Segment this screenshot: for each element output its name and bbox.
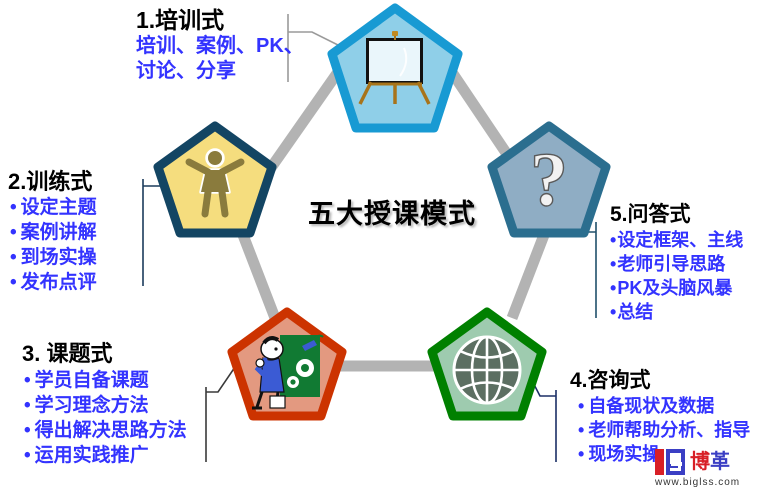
list-item: 设定主题 — [8, 195, 97, 220]
node-4-consulting[interactable] — [432, 312, 542, 416]
list-item: 运用实践推广 — [22, 443, 187, 468]
label-3-list: 学员自备课题 学习理念方法 得出解决思路方法 运用实践推广 — [22, 368, 187, 468]
label-4-title: 4.咨询式 — [570, 368, 750, 394]
list-item: 老师帮助分析、指导 — [570, 418, 750, 442]
label-3-title: 3. 课题式 — [22, 340, 187, 368]
node-3-topic[interactable] — [232, 312, 342, 416]
list-item: 发布点评 — [8, 270, 97, 295]
label-1-line-1: 培训、案例、PK、 — [136, 34, 304, 59]
logo-word-1: 博 — [690, 451, 710, 473]
center-title: 五大授课模式 — [292, 192, 492, 231]
brand-logo: 博革 www.biglss.com — [655, 448, 761, 492]
list-item: 案例讲解 — [8, 220, 97, 245]
diagram-canvas: ? 五大授课模式 1.培训式 培训、案例、PK、 讨论、分享 2.训练式 设定主… — [0, 0, 764, 495]
svg-text:?: ? — [530, 138, 568, 222]
label-5-list: 设定框架、主线 老师引导思路 PK及头脑风暴 总结 — [610, 228, 743, 324]
list-item: 总结 — [610, 300, 743, 324]
label-2-list: 设定主题 案例讲解 到场实操 发布点评 — [8, 195, 97, 295]
list-item: 老师引导思路 — [610, 252, 743, 276]
node-5-qa[interactable]: ? — [492, 126, 606, 233]
list-item: 得出解决思路方法 — [22, 418, 187, 443]
node-1-training[interactable] — [332, 8, 458, 128]
list-item: 学习理念方法 — [22, 393, 187, 418]
label-block-1: 1.培训式 培训、案例、PK、 讨论、分享 — [136, 6, 304, 84]
label-1-line-2: 讨论、分享 — [136, 59, 304, 84]
label-5-title: 5.问答式 — [610, 202, 743, 228]
list-item: PK及头脑风暴 — [610, 276, 743, 300]
logo-word-2: 革 — [710, 451, 730, 473]
logo-wordmark: 博革 — [690, 449, 730, 475]
node-2-drilling[interactable] — [158, 126, 272, 233]
label-block-2: 2.训练式 设定主题 案例讲解 到场实操 发布点评 — [8, 168, 97, 295]
list-item: 到场实操 — [8, 245, 97, 270]
ig-logo-mark-icon — [655, 449, 685, 475]
list-item: 自备现状及数据 — [570, 394, 750, 418]
list-item: 学员自备课题 — [22, 368, 187, 393]
globe-icon — [454, 337, 520, 403]
logo-url: www.biglss.com — [655, 477, 761, 488]
label-2-title: 2.训练式 — [8, 168, 97, 195]
logo-row: 博革 — [655, 448, 761, 476]
label-block-5: 5.问答式 设定框架、主线 老师引导思路 PK及头脑风暴 总结 — [610, 202, 743, 324]
question-mark-icon: ? — [530, 138, 568, 222]
label-1-title: 1.培训式 — [136, 6, 304, 34]
list-item: 设定框架、主线 — [610, 228, 743, 252]
label-block-3: 3. 课题式 学员自备课题 学习理念方法 得出解决思路方法 运用实践推广 — [22, 340, 187, 468]
